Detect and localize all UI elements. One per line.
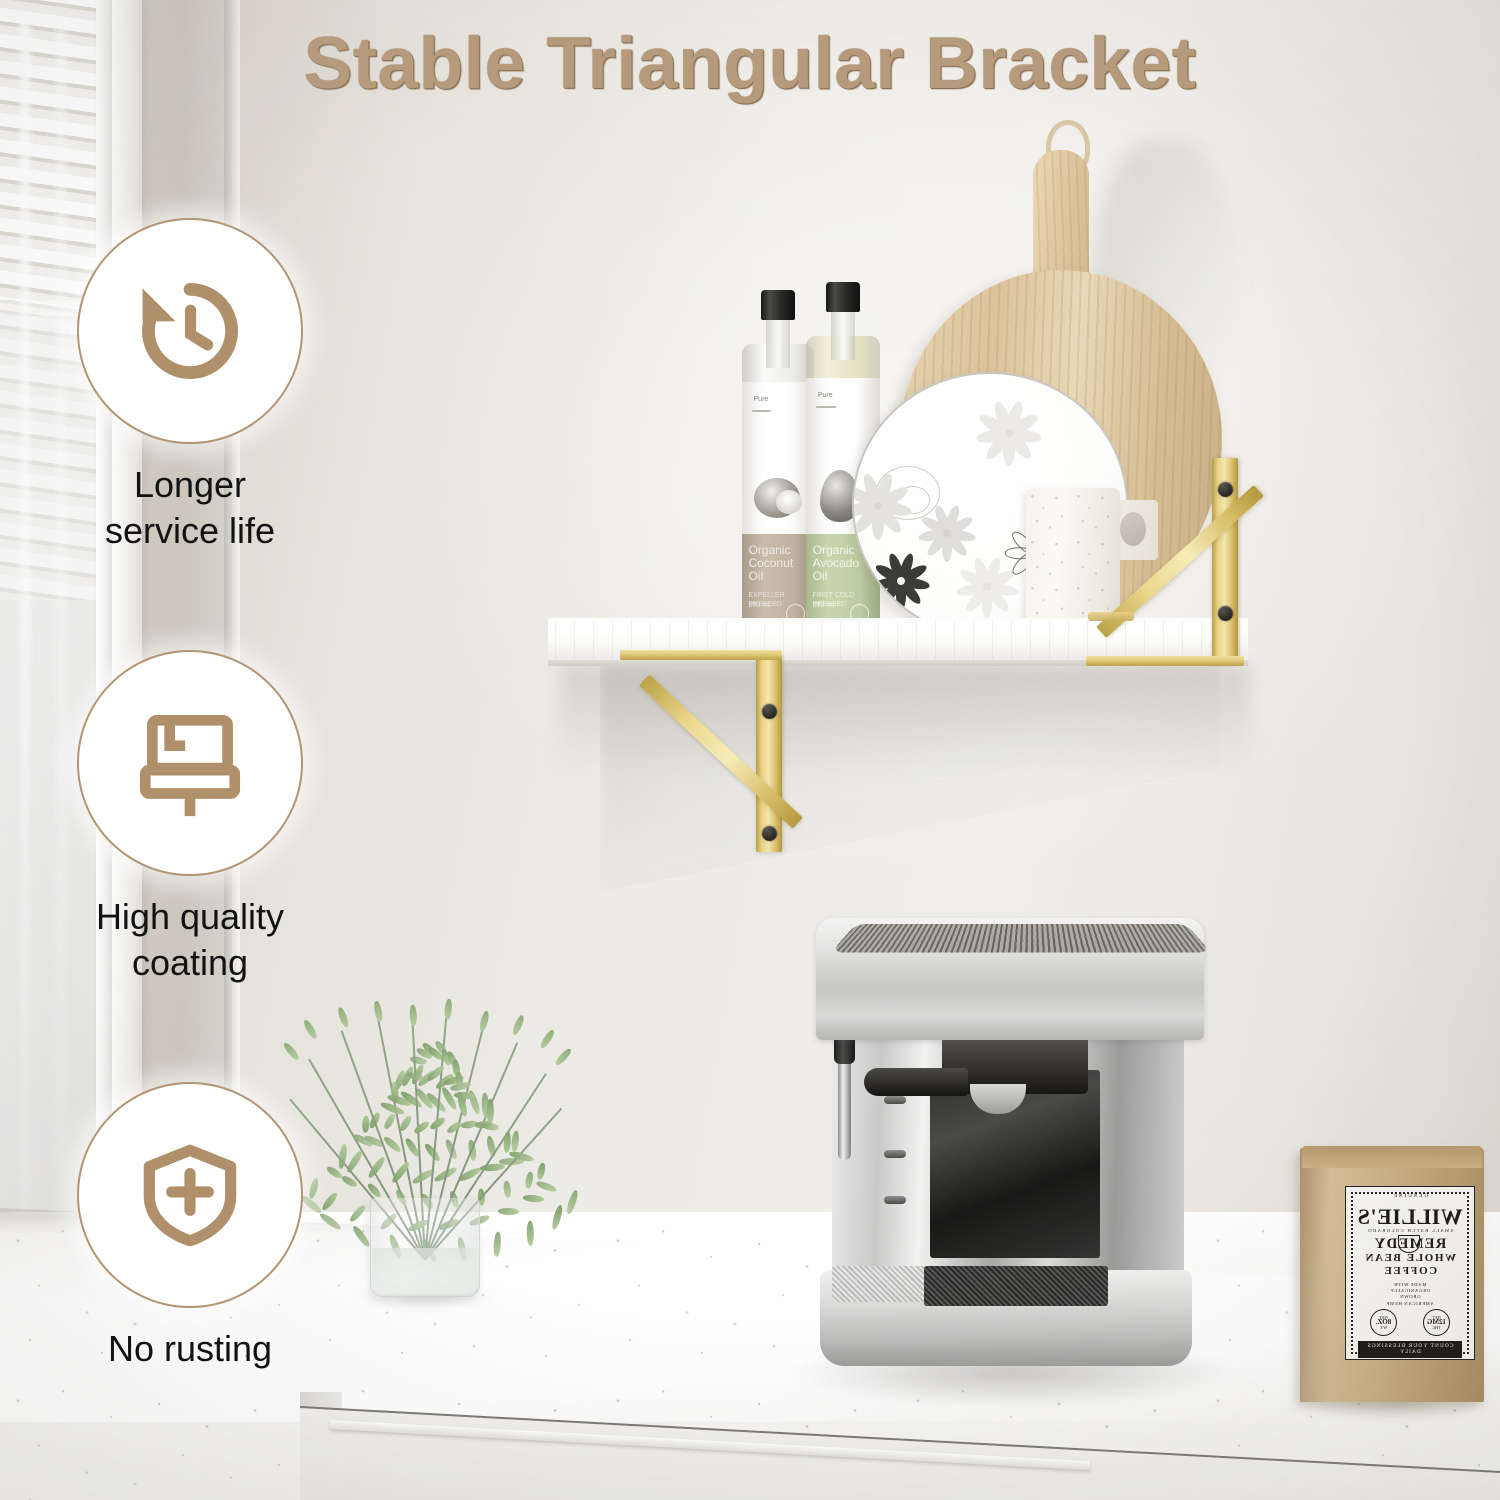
plant-leaf <box>348 1203 367 1223</box>
plant-leaf <box>455 1072 463 1090</box>
plant-leaf-tip <box>512 1014 526 1036</box>
bottle-brand: Pure <box>818 392 879 401</box>
product-line-3: Oil <box>748 570 807 582</box>
coffee-bag-brand: WILLIE'S <box>1357 1207 1463 1227</box>
feature-label-2-line2: coating <box>40 940 340 986</box>
espresso-control-3[interactable] <box>884 1196 906 1204</box>
plant-leaf <box>536 1162 546 1180</box>
feature-high-quality-coating: High quality coating <box>40 650 340 986</box>
coffee-bag-made-4: AMERICAN HEMP <box>1386 1301 1434 1307</box>
history-clock-icon <box>126 267 254 395</box>
plant-leaf <box>391 1081 399 1102</box>
bracket-left-wall-plate <box>756 656 782 852</box>
plant-leaf <box>407 1071 425 1082</box>
plant-leaf <box>487 1098 494 1123</box>
vase-water <box>372 1248 476 1294</box>
plant-leaf <box>523 1194 544 1202</box>
bracket-right-reflection <box>1088 612 1134 621</box>
coffee-bag-line-1: WHOLE BEAN <box>1364 1252 1456 1265</box>
brand-rule <box>816 406 835 408</box>
bracket-left-screw-top <box>762 704 777 719</box>
badge-left-bottom: THC <box>1432 1325 1441 1330</box>
daisy-dark <box>870 550 932 612</box>
espresso-cup-warmer-grill <box>831 924 1211 952</box>
badge-right-bottom: WT. <box>1380 1325 1388 1330</box>
espresso-top-housing <box>816 918 1204 1040</box>
page-title: Stable Triangular Bracket <box>0 22 1500 105</box>
bracket-left-shelf-arm <box>620 650 782 660</box>
espresso-control-2[interactable] <box>884 1150 906 1158</box>
product-line-1: Organic <box>748 544 807 556</box>
coconut-flesh <box>776 490 802 514</box>
feature-label-2-line1: High quality <box>40 894 340 940</box>
espresso-machine <box>802 918 1208 1378</box>
bottle-brand: Pure <box>754 396 813 405</box>
bottle-neck <box>766 312 790 368</box>
glass-highlight-2 <box>56 20 66 1220</box>
plant-leaf-tip <box>444 999 452 1020</box>
plant-leaf <box>445 1120 463 1135</box>
feature-longer-service-life: Longer service life <box>40 218 340 554</box>
bracket-right-screw-top <box>1218 482 1233 497</box>
coffee-bag-arc-text: GENUINE <box>1392 1194 1428 1199</box>
plant-leaf-tip <box>336 1006 349 1028</box>
plant-leaf <box>351 1224 371 1248</box>
coffee-bag-gusset <box>1300 1148 1330 1402</box>
product-marketing-image: Pure Organic Coconut Oil EXPELLER PRESSE… <box>0 0 1500 1500</box>
plant-leaf-tip <box>539 1029 556 1050</box>
daisy-pale-1 <box>974 398 1044 468</box>
plant-leaf <box>566 1189 580 1215</box>
plant-leaf <box>503 1181 512 1199</box>
window-blinds <box>0 0 152 1270</box>
product-line-2: Coconut <box>748 557 807 569</box>
plant-leaf-tip <box>479 1010 490 1032</box>
window-mullion <box>96 0 112 1250</box>
feature-label-3: No rusting <box>40 1326 340 1372</box>
feature-label-3-line1: No rusting <box>40 1326 340 1372</box>
espresso-drip-tray <box>924 1266 1108 1306</box>
bottle-cap <box>761 290 795 320</box>
coconut-oil-bottle: Pure Organic Coconut Oil EXPELLER PRESSE… <box>742 290 814 638</box>
feature-icon-circle-1 <box>77 218 303 444</box>
plant-leaf <box>503 1132 511 1153</box>
feature-no-rusting: No rusting <box>40 1082 340 1372</box>
feature-icon-circle-2 <box>77 650 303 876</box>
bracket-right-screw-bottom <box>1218 606 1233 621</box>
bracket-right-shelf-arm <box>1086 656 1244 666</box>
plant-leaf <box>512 1130 521 1152</box>
plant-leaf <box>413 1120 431 1135</box>
plant-leaf-tip <box>554 1047 573 1067</box>
plant-leaf <box>525 1171 534 1189</box>
feature-label-2: High quality coating <box>40 894 340 986</box>
bottle-neck <box>831 304 855 360</box>
product-line-3: Oil <box>813 570 874 582</box>
daisy-pale-2 <box>852 470 914 542</box>
bottle-cap <box>826 282 860 312</box>
bottle-label: Pure Organic Coconut Oil EXPELLER PRESSE… <box>742 382 814 628</box>
plant-leaf <box>362 1116 369 1133</box>
plant-leaf <box>493 1231 501 1256</box>
coffee-bag-badge-weight: NET 8OZ. WT. <box>1370 1309 1397 1336</box>
plant-leaf <box>382 1113 396 1131</box>
bracket-left <box>620 656 800 856</box>
feature-label-1: Longer service life <box>40 462 340 554</box>
shield-plus-icon <box>129 1134 251 1256</box>
plant-leaf <box>398 1114 413 1132</box>
glass-highlight-1 <box>20 20 30 1220</box>
plant-leaf <box>498 1207 519 1214</box>
plant-leaf <box>551 1204 564 1230</box>
espresso-control-1[interactable] <box>884 1096 906 1104</box>
feature-label-1-line1: Longer <box>40 462 340 508</box>
feature-icon-circle-3 <box>77 1082 303 1308</box>
plant-leaf-tip <box>302 1019 318 1040</box>
coffee-bag-badges: NET 12MG THC NET 8OZ. WT. <box>1370 1309 1450 1336</box>
feature-label-1-line2: service life <box>40 508 340 554</box>
label-color-band: Organic Coconut Oil EXPELLER PRESSED 500… <box>742 534 814 628</box>
coffee-bag-top-fold <box>1302 1146 1482 1168</box>
plant-leaf <box>527 1220 534 1245</box>
coffee-bag-subline-top: SMALL BATCH COLORADO <box>1367 1228 1453 1233</box>
coffee-bag-footer: COUNT YOUR BLESSINGS DAILY <box>1358 1341 1463 1358</box>
plant-leaf <box>536 1180 558 1194</box>
coffee-bag-line-2: COFFEE <box>1383 1265 1437 1278</box>
plant-leaf <box>481 1121 499 1130</box>
bracket-right <box>1080 458 1260 668</box>
coffee-bag-badge-thc: NET 12MG THC <box>1423 1309 1450 1336</box>
window-frame <box>112 0 142 1262</box>
espresso-drip-tray-left <box>832 1266 930 1302</box>
espresso-portafilter-handle <box>864 1068 968 1096</box>
coffee-bag-label: GENUINE WILLIE'S SMALL BATCH COLORADO RE… <box>1345 1186 1475 1360</box>
coffee-bag-label-frame: GENUINE WILLIE'S SMALL BATCH COLORADO RE… <box>1351 1192 1469 1354</box>
brand-rule <box>752 410 771 412</box>
bracket-left-screw-bottom <box>762 826 777 841</box>
paint-brush-icon <box>129 702 251 824</box>
